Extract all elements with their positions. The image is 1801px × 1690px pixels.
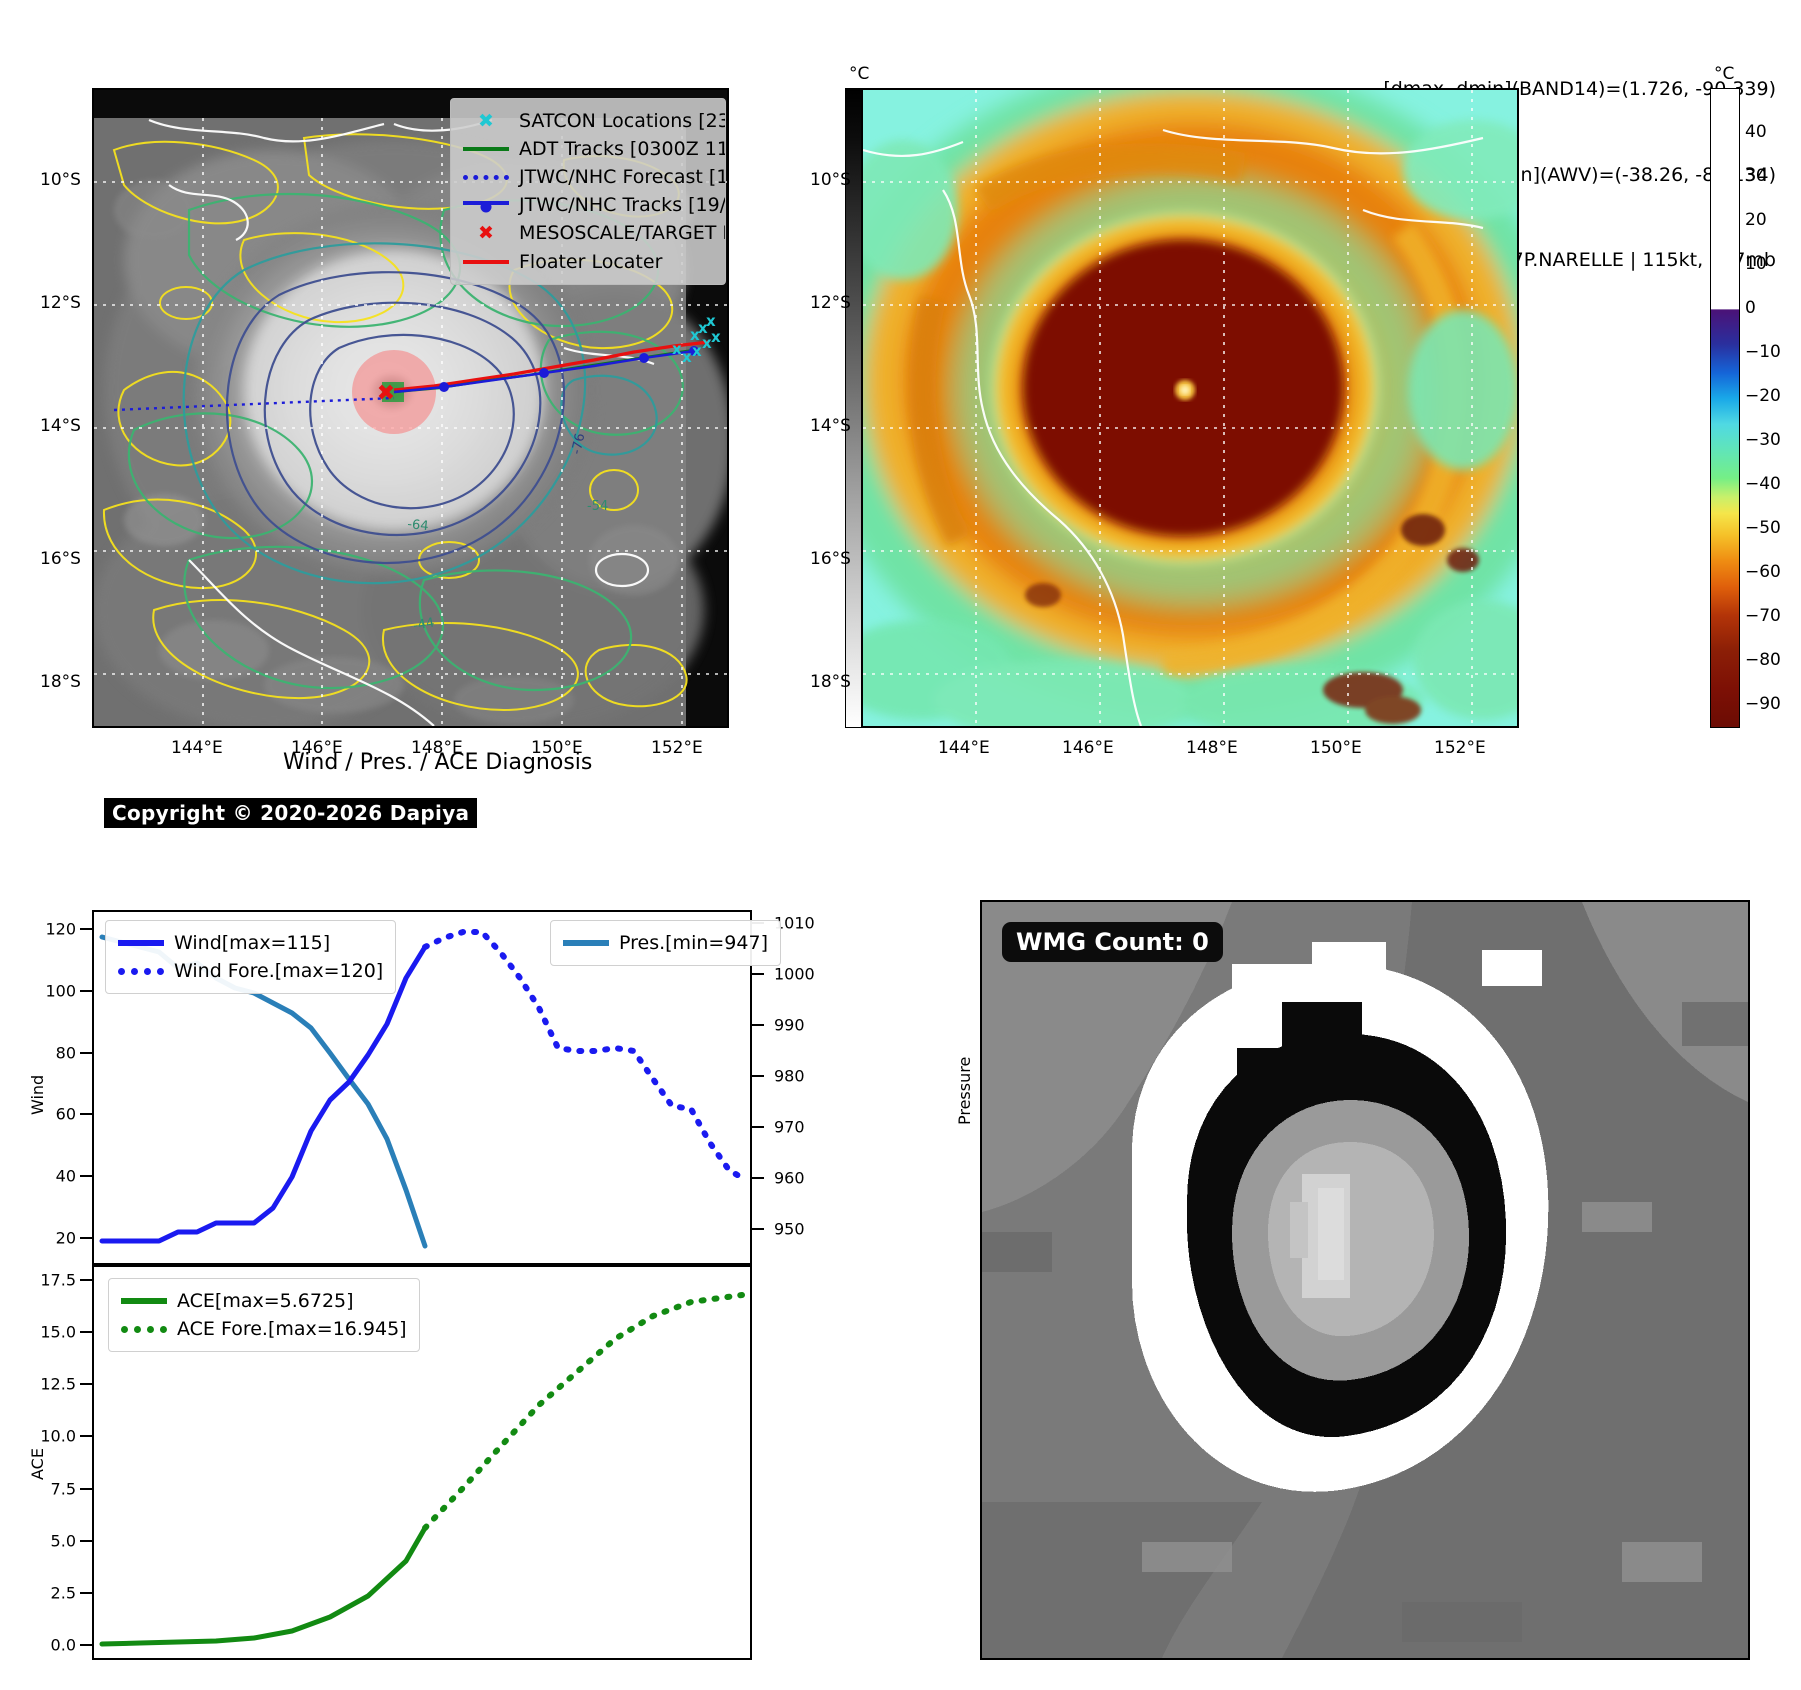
wind-tick: 20 [56, 1229, 76, 1248]
svg-text:-64: -64 [407, 517, 430, 534]
cb-tick: 40 [1745, 122, 1767, 142]
ir-lon-label-144E: 144°E [171, 738, 223, 758]
cb-tick: −30 [1745, 430, 1781, 450]
cb-tick: 0 [1745, 298, 1756, 318]
pressure-tick: 960 [774, 1169, 805, 1188]
ir-lat-label-10S: 10°S [40, 170, 81, 190]
dotted-line-swatch-icon [463, 175, 509, 180]
legend-label: Floater Locater [519, 248, 662, 276]
legend-item-jtwc-forecast[interactable]: JTWC/NHC Forecast [19/0000Z] [463, 163, 713, 191]
awv-satellite-image [863, 90, 1517, 726]
legend-label: JTWC/NHC Forecast [19/0000Z] [519, 163, 726, 191]
legend-item-floater[interactable]: Floater Locater [463, 248, 713, 276]
svg-text:x: x [711, 328, 721, 346]
wind-axis-label: Wind [28, 1075, 47, 1115]
ace-tick: 15.0 [40, 1323, 76, 1342]
wmg-panel[interactable] [980, 900, 1750, 1660]
pressure-tick: 980 [774, 1067, 805, 1086]
wmg-image [982, 902, 1748, 1658]
line-dot-swatch-icon [463, 201, 509, 209]
awv-lat-label-18S: 18°S [810, 672, 851, 692]
line-swatch-icon [463, 147, 509, 151]
legend-label: JTWC/NHC Tracks [19/0000Z] [519, 191, 726, 219]
svg-text:-54: -54 [587, 499, 608, 514]
legend-label: Pres.[min=947] [619, 929, 768, 957]
ir-lat-label-12S: 12°S [40, 293, 81, 313]
cb-tick: −70 [1745, 606, 1781, 626]
ace-tick: 0.0 [51, 1636, 76, 1655]
ace-tick: 17.5 [40, 1271, 76, 1290]
wind-tick: 120 [45, 920, 76, 939]
legend-item-adt[interactable]: ADT Tracks [0300Z 115.0 946.8] [463, 135, 713, 163]
legend-label: Wind[max=115] [174, 929, 330, 957]
ir-lat-label-16S: 16°S [40, 549, 81, 569]
cb-tick: −40 [1745, 474, 1781, 494]
line-swatch-icon [563, 940, 609, 946]
svg-text:x: x [702, 334, 712, 352]
legend-item-wind-forecast[interactable]: Wind Fore.[max=120] [118, 957, 383, 985]
ir-lon-label-152E: 152°E [651, 738, 703, 758]
wind-tick: 40 [56, 1167, 76, 1186]
svg-text:x: x [692, 342, 702, 360]
awv-colorbar[interactable] [1710, 88, 1740, 728]
legend-label: ACE Fore.[max=16.945] [177, 1315, 407, 1343]
pressure-tick: 990 [774, 1016, 805, 1035]
legend-label: ACE[max=5.6725] [177, 1287, 354, 1315]
wind-tick: 100 [45, 982, 76, 1001]
awv-target-area-panel[interactable] [861, 88, 1519, 728]
pressure-tick: 950 [774, 1220, 805, 1239]
dotted-line-swatch-icon [121, 1326, 167, 1333]
x-marker-icon: ✖ [463, 112, 509, 131]
ir-lat-label-18S: 18°S [40, 672, 81, 692]
cb-tick: −50 [1745, 518, 1781, 538]
ace-tick: 7.5 [51, 1480, 76, 1499]
ace-axis-label: ACE [28, 1448, 47, 1480]
cb-tick: −20 [1745, 386, 1781, 406]
pressure-legend[interactable]: Pres.[min=947] [550, 920, 781, 966]
mesoscale-target-marker: ✖ [377, 381, 395, 406]
legend-label: SATCON Locations [2300Z 122 944] [519, 107, 726, 135]
wind-legend[interactable]: Wind[max=115] Wind Fore.[max=120] [105, 920, 396, 994]
cb-tick: −90 [1745, 694, 1781, 714]
pressure-tick: 1000 [774, 965, 815, 984]
ace-tick: 12.5 [40, 1375, 76, 1394]
cb-tick: 30 [1745, 166, 1767, 186]
diagnosis-title: Wind / Pres. / ACE Diagnosis [283, 750, 592, 775]
legend-item-ace[interactable]: ACE[max=5.6725] [121, 1287, 407, 1315]
legend-item-jtwc-tracks[interactable]: JTWC/NHC Tracks [19/0000Z] [463, 191, 713, 219]
awv-lat-label-12S: 12°S [810, 293, 851, 313]
line-swatch-icon [118, 940, 164, 946]
ace-tick: 5.0 [51, 1532, 76, 1551]
ace-line [102, 1528, 425, 1644]
wind-forecast-line [425, 932, 744, 1179]
legend-item-mesoscale[interactable]: ✖ MESOSCALE/TARGET Location [463, 219, 713, 247]
wmg-count-badge: WMG Count: 0 [1002, 922, 1223, 962]
awv-colorbar-unit: °C [1714, 64, 1734, 84]
ir-lat-label-14S: 14°S [40, 416, 81, 436]
cb-tick: 20 [1745, 210, 1767, 230]
awv-lon-label-152E: 152°E [1434, 738, 1486, 758]
ir-colorbar-unit: °C [849, 64, 869, 84]
svg-text:x: x [682, 348, 692, 366]
awv-lat-label-14S: 14°S [810, 416, 851, 436]
pressure-axis-label: Pressure [955, 1057, 974, 1125]
awv-lon-label-148E: 148°E [1186, 738, 1238, 758]
cb-tick: −60 [1745, 562, 1781, 582]
cb-tick: −10 [1745, 342, 1781, 362]
cb-tick: −80 [1745, 650, 1781, 670]
awv-lon-label-144E: 144°E [938, 738, 990, 758]
cb-tick: 10 [1745, 254, 1767, 274]
wind-tick: 80 [56, 1044, 76, 1063]
legend-item-satcon[interactable]: ✖ SATCON Locations [2300Z 122 944] [463, 107, 713, 135]
ace-legend[interactable]: ACE[max=5.6725] ACE Fore.[max=16.945] [108, 1278, 420, 1352]
legend-item-pressure[interactable]: Pres.[min=947] [563, 929, 768, 957]
awv-colorbar-ticks: 40 30 20 10 0 −10 −20 −30 −40 −50 −60 −7… [1745, 88, 1801, 728]
legend-label: Wind Fore.[max=120] [174, 957, 383, 985]
x-marker-icon: ✖ [463, 224, 509, 243]
ace-forecast-line [425, 1295, 742, 1528]
line-swatch-icon [463, 260, 509, 264]
ace-tick: 2.5 [51, 1584, 76, 1603]
ace-tick: 10.0 [40, 1427, 76, 1446]
awv-lon-label-146E: 146°E [1062, 738, 1114, 758]
copyright-notice: Copyright © 2020-2026 Dapiya [104, 798, 477, 828]
legend-item-ace-forecast[interactable]: ACE Fore.[max=16.945] [121, 1315, 407, 1343]
awv-lon-label-150E: 150°E [1310, 738, 1362, 758]
wind-tick: 60 [56, 1105, 76, 1124]
pressure-tick: 970 [774, 1118, 805, 1137]
ir-map-legend[interactable]: ✖ SATCON Locations [2300Z 122 944] ADT T… [450, 98, 726, 285]
line-swatch-icon [121, 1298, 167, 1304]
awv-lat-label-10S: 10°S [810, 170, 851, 190]
legend-item-wind[interactable]: Wind[max=115] [118, 929, 383, 957]
dotted-line-swatch-icon [118, 968, 164, 975]
legend-label: ADT Tracks [0300Z 115.0 946.8] [519, 135, 726, 163]
awv-lat-label-16S: 16°S [810, 549, 851, 569]
legend-label: MESOSCALE/TARGET Location [519, 219, 726, 247]
svg-text:x: x [672, 340, 682, 358]
